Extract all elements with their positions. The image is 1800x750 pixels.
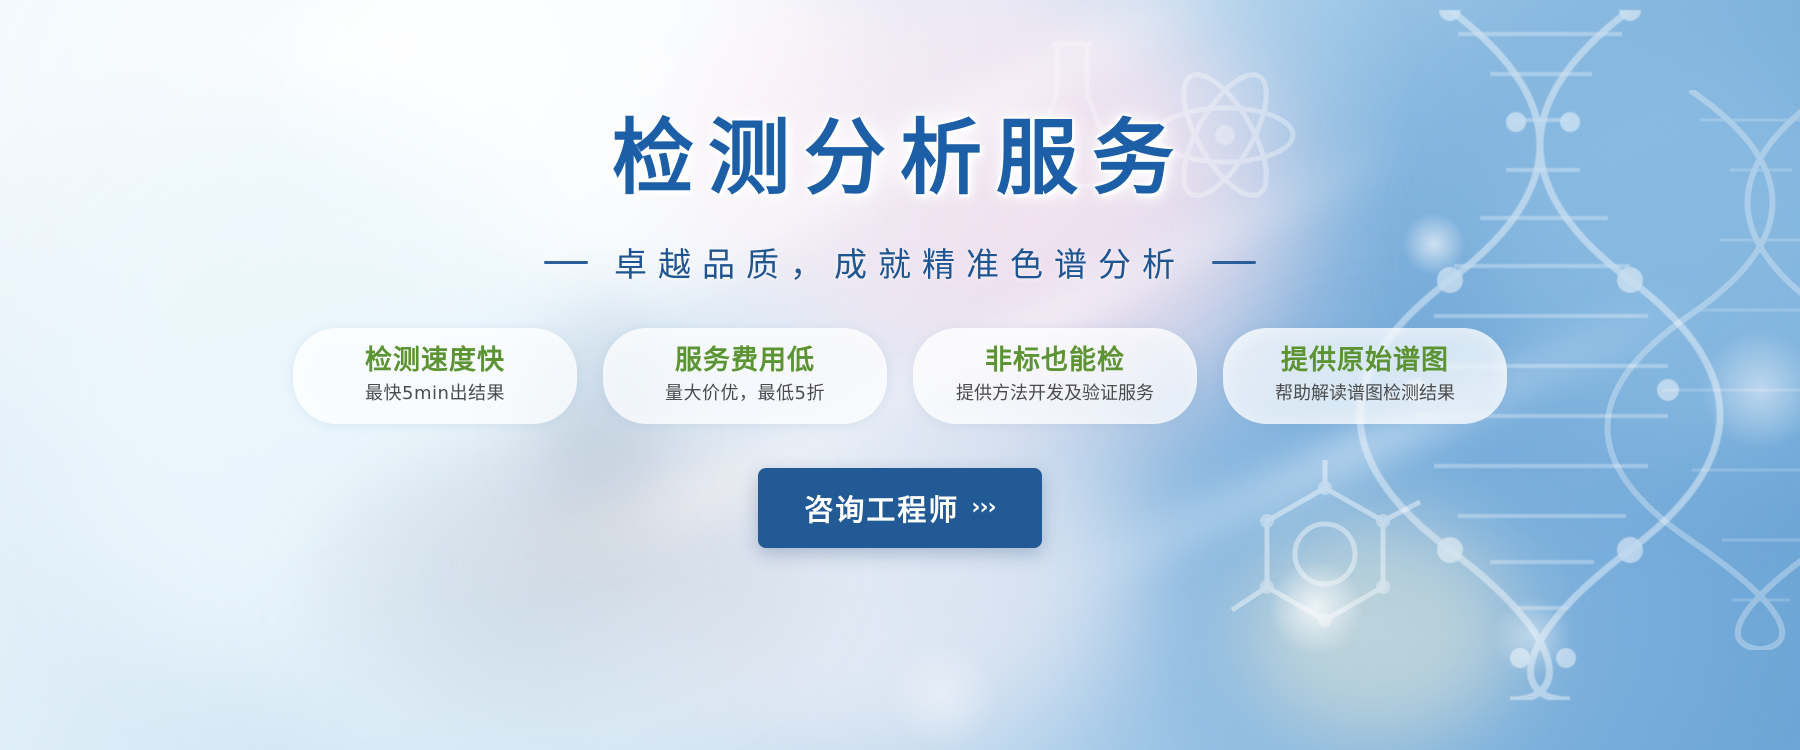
chevron-right-icon: ››› <box>971 495 995 520</box>
feature-pill-title: 提供原始谱图 <box>1249 345 1481 376</box>
feature-pill-list: 检测速度快 最快5min出结果 服务费用低 量大价优，最低5折 非标也能检 提供… <box>293 328 1507 424</box>
cta-container: 咨询工程师 ››› <box>758 468 1041 548</box>
feature-pill[interactable]: 非标也能检 提供方法开发及验证服务 <box>913 328 1197 424</box>
subtitle: 卓越品质，成就精准色谱分析 <box>544 238 1256 286</box>
consult-engineer-label: 咨询工程师 <box>804 487 959 529</box>
feature-pill[interactable]: 服务费用低 量大价优，最低5折 <box>603 328 887 424</box>
hero-banner: 检测分析服务 卓越品质，成就精准色谱分析 检测速度快 最快5min出结果 服务费… <box>0 0 1800 750</box>
subtitle-text: 卓越品质，成就精准色谱分析 <box>614 238 1186 286</box>
consult-engineer-button[interactable]: 咨询工程师 ››› <box>758 468 1041 548</box>
subtitle-dash-left <box>544 261 588 264</box>
feature-pill-subtitle: 提供方法开发及验证服务 <box>939 383 1171 405</box>
subtitle-dash-right <box>1212 261 1256 264</box>
feature-pill[interactable]: 检测速度快 最快5min出结果 <box>293 328 577 424</box>
feature-pill-subtitle: 最快5min出结果 <box>319 383 551 405</box>
page-title: 检测分析服务 <box>612 118 1188 200</box>
feature-pill-title: 检测速度快 <box>319 345 551 376</box>
feature-pill-subtitle: 帮助解读谱图检测结果 <box>1249 383 1481 405</box>
feature-pill-title: 非标也能检 <box>939 345 1171 376</box>
feature-pill-title: 服务费用低 <box>629 345 861 376</box>
feature-pill-subtitle: 量大价优，最低5折 <box>629 383 861 405</box>
feature-pill[interactable]: 提供原始谱图 帮助解读谱图检测结果 <box>1223 328 1507 424</box>
